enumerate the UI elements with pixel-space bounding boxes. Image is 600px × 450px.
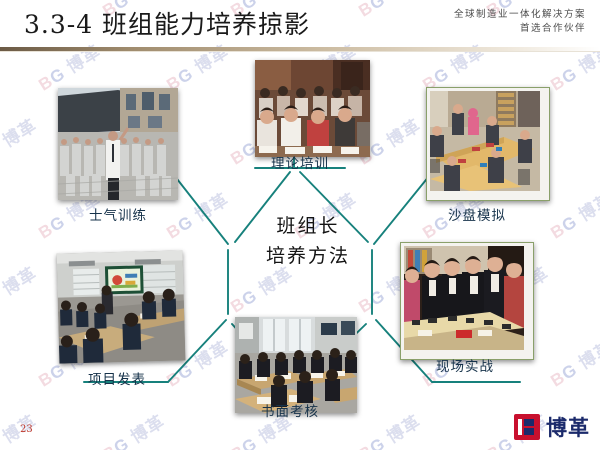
brand-logo-icon [514,414,540,440]
photo-sandtable [426,87,550,201]
label-onsite: 现场实战 [410,355,520,375]
photo-presentation [57,250,186,363]
page-title: 3.3-4 班组能力培养掠影 [24,5,310,41]
label-morale: 士气训练 [68,204,168,224]
slide-root: BG 博革BG 博革BG 博革BG 博革BG 博革BG 博革BG 博革BG 博革… [0,0,600,450]
photo-theory-image [255,60,370,157]
slide-header: 3.3-4 班组能力培养掠影 全球制造业一体化解决方案 首选合作伙伴 [0,0,600,52]
header-subtitle-line2: 首选合作伙伴 [376,22,586,36]
photo-morale-image [58,88,178,200]
photo-onsite-image [404,246,530,356]
diagram-center-label: 班组长 培养方法 [238,212,378,272]
label-written: 书面考核 [240,400,340,420]
photo-sandtable-image [430,91,546,197]
photo-presentation-image [57,250,186,363]
brand-logo: 博革 [514,412,590,442]
photo-written-image [235,317,357,413]
watermark-mark: BG 博革 [97,408,169,450]
header-subtitle-line1: 全球制造业一体化解决方案 [376,8,586,22]
photo-theory [255,60,370,157]
photo-onsite [400,242,534,360]
label-sandtable: 沙盘模拟 [427,204,527,224]
capability-training-diagram: 班组长 培养方法 [0,52,600,412]
center-label-line1: 班组长 [238,212,378,242]
brand-logo-text: 博革 [546,412,590,442]
label-theory: 理论培训 [250,152,350,172]
header-subtitle: 全球制造业一体化解决方案 首选合作伙伴 [376,8,586,36]
header-divider-thin [0,51,600,52]
photo-written [235,317,357,413]
page-number: 23 [20,424,33,435]
center-label-line2: 培养方法 [238,242,378,272]
watermark-mark: BG 博革 [353,408,425,450]
label-presentation: 项目发表 [62,368,172,388]
photo-morale [58,88,178,200]
